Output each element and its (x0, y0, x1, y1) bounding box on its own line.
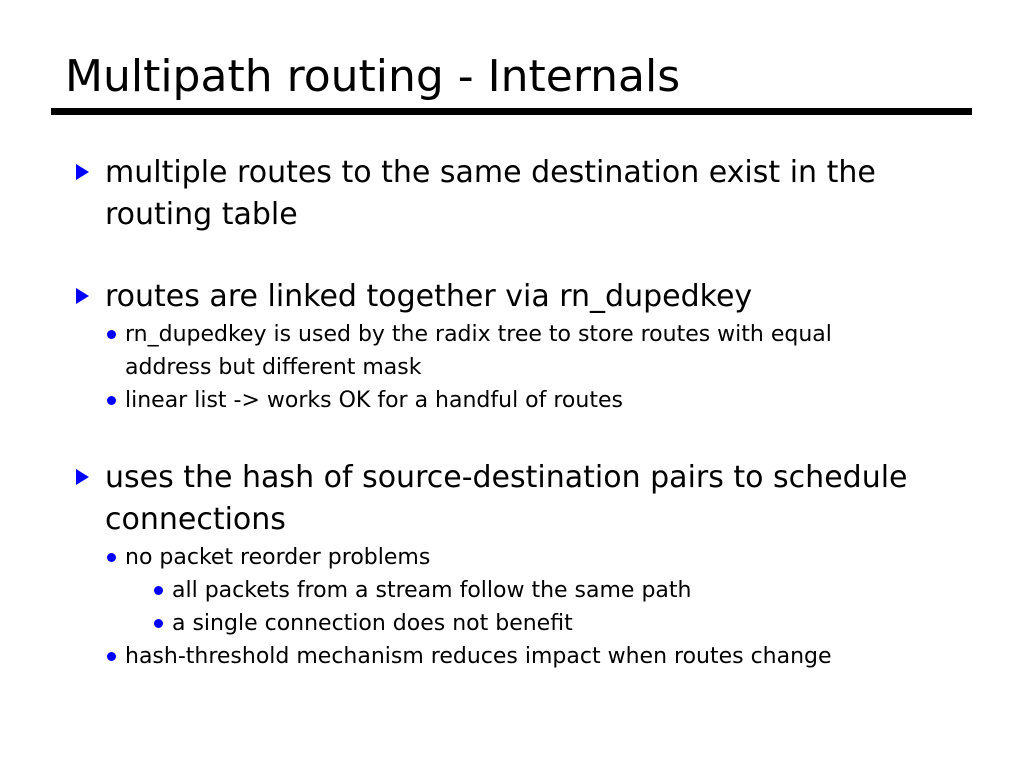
list-item-label: hash-threshold mechanism reduces impact … (125, 644, 832, 669)
list-item-label: multiple routes to the same destination … (105, 155, 876, 232)
list-item-label: uses the hash of source-destination pair… (105, 460, 908, 537)
triangle-bullet-icon (76, 164, 89, 180)
list-item-label: all packets from a stream follow the sam… (172, 578, 691, 603)
dot-bullet-icon (107, 396, 116, 405)
page-title: Multipath routing - Internals (51, 50, 972, 104)
list-item-label: no packet reorder problems (125, 545, 430, 570)
list-item: hash-threshold mechanism reduces impact … (0, 640, 1024, 673)
triangle-bullet-icon (76, 288, 89, 304)
list-item-label: a single connection does not benefit (172, 611, 573, 636)
list-item-label: linear list -> works OK for a handful of… (125, 388, 623, 413)
list-item: multiple routes to the same destination … (0, 152, 1024, 236)
triangle-bullet-icon (76, 469, 89, 485)
group-spacer (0, 236, 1024, 276)
dot-bullet-icon (107, 330, 116, 339)
list-item: routes are linked together via rn_dupedk… (0, 276, 1024, 318)
list-item: rn_dupedkey is used by the radix tree to… (0, 318, 1024, 384)
slide: Multipath routing - Internals multiple r… (0, 0, 1024, 768)
list-item: linear list -> works OK for a handful of… (0, 384, 1024, 417)
list-item: no packet reorder problems (0, 541, 1024, 574)
list-item-label: rn_dupedkey is used by the radix tree to… (125, 322, 832, 380)
slide-title-block: Multipath routing - Internals (51, 50, 972, 115)
title-underline-rule (51, 108, 972, 115)
group-spacer (0, 417, 1024, 457)
dot-bullet-icon (107, 652, 116, 661)
slide-body: multiple routes to the same destination … (0, 152, 1024, 673)
dot-bullet-icon (154, 619, 163, 628)
dot-bullet-icon (154, 586, 163, 595)
list-item: uses the hash of source-destination pair… (0, 457, 1024, 541)
list-item-label: routes are linked together via rn_dupedk… (105, 279, 752, 314)
dot-bullet-icon (107, 553, 116, 562)
list-item: a single connection does not benefit (0, 607, 1024, 640)
list-item: all packets from a stream follow the sam… (0, 574, 1024, 607)
